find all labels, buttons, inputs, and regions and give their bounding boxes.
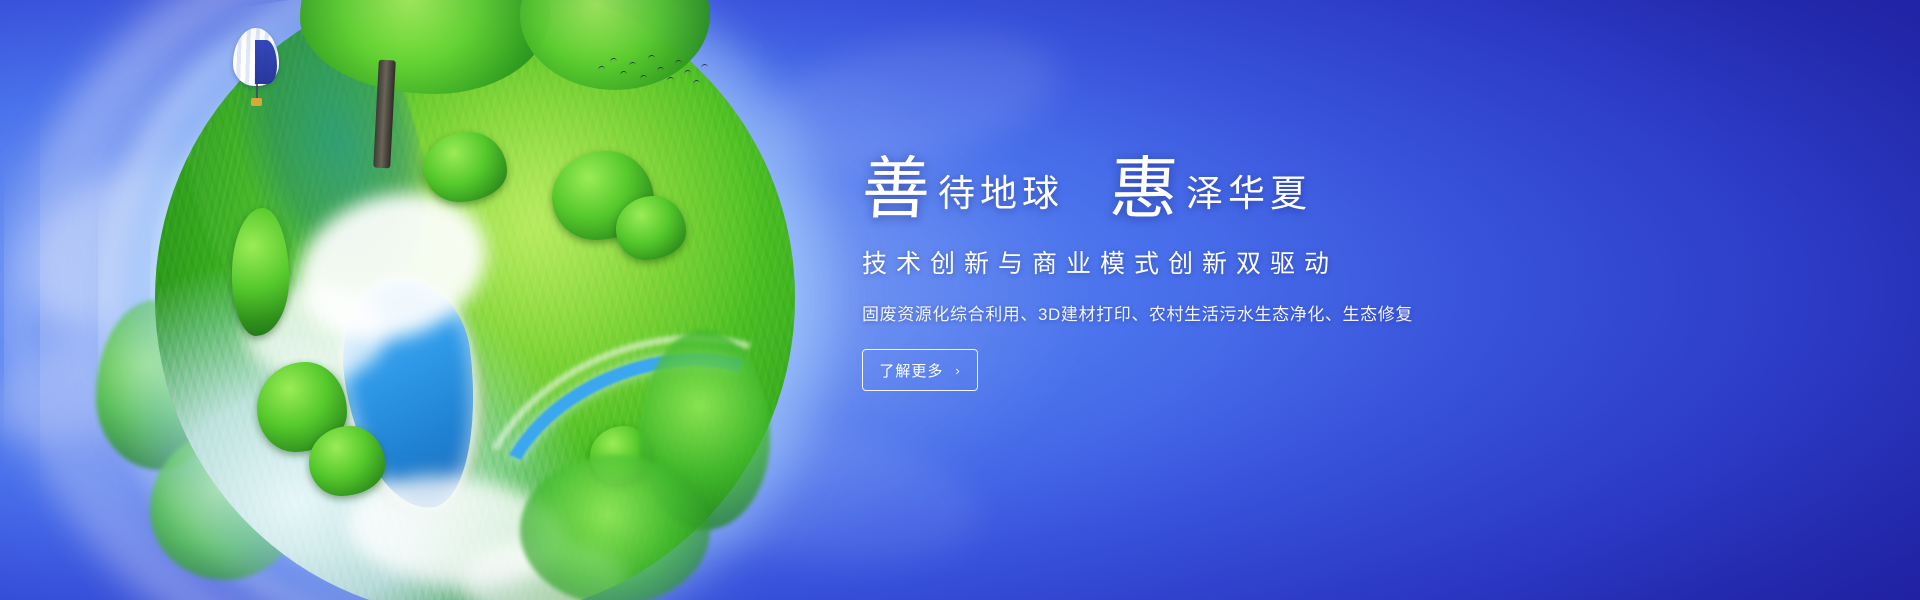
hero-description: 固废资源化综合利用、3D建材打印、农村生活污水生态净化、生态修复 <box>862 300 1562 325</box>
hero-banner: 善 待地球 惠 泽华夏 技术创新与商业模式创新双驱动 固废资源化综合利用、3D建… <box>0 0 1920 600</box>
headline-phrase-one: 善 待地球 <box>862 157 1064 222</box>
headline-lead-char-2: 惠 <box>1108 157 1179 222</box>
hero-copy: 善 待地球 惠 泽华夏 技术创新与商业模式创新双驱动 固废资源化综合利用、3D建… <box>862 138 1562 391</box>
hero-subtitle: 技术创新与商业模式创新双驱动 <box>862 244 1562 280</box>
headline-lead-char: 善 <box>860 157 931 222</box>
headline-rest-chars: 待地球 <box>938 174 1064 222</box>
headline-phrase-two: 惠 泽华夏 <box>1110 157 1312 222</box>
learn-more-button[interactable]: 了解更多 › <box>862 349 978 391</box>
learn-more-label: 了解更多 <box>879 360 943 381</box>
headline-rest-chars-2: 泽华夏 <box>1186 174 1312 222</box>
chevron-right-icon: › <box>955 363 960 378</box>
page-title: 善 待地球 惠 泽华夏 <box>862 138 1562 222</box>
